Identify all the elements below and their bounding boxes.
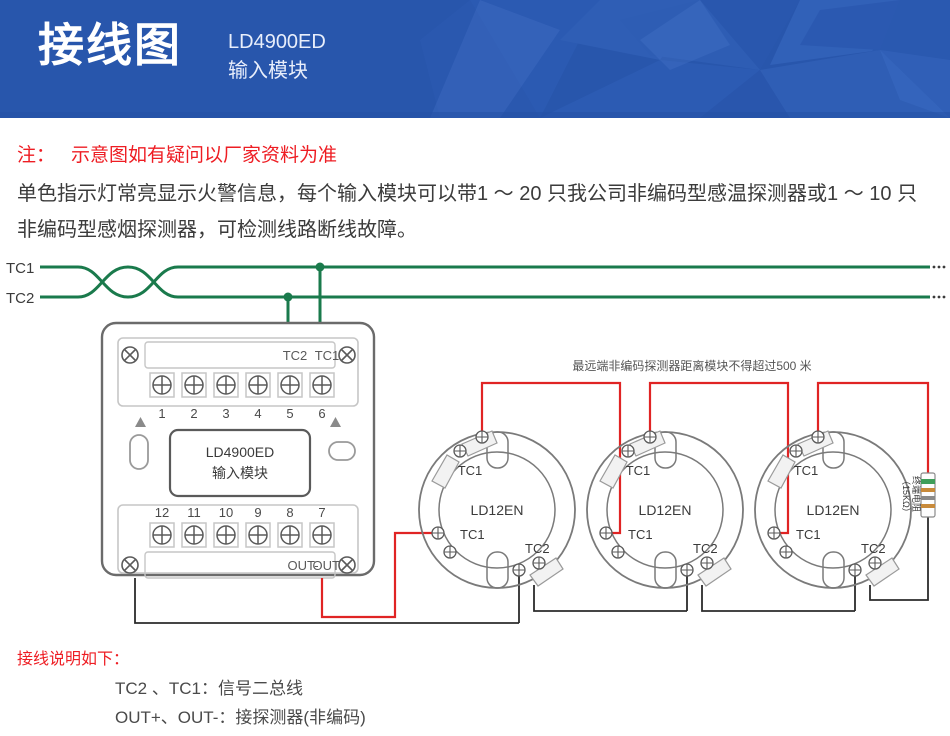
resistor-band-2 [921, 488, 935, 492]
intro-paragraph: 单色指示灯常亮显示火警信息，每个输入模块可以带1 ～ 20 只我公司非编码型感温… [17, 176, 937, 248]
module-screw-top-left [122, 347, 138, 363]
header-model: LD4900ED [228, 28, 326, 57]
header-subtitle: 输入模块 [228, 57, 326, 86]
warning-note: 注：示意图如有疑问以厂家资料为准 [17, 140, 337, 167]
input-module: TC2 TC1 [102, 323, 374, 578]
detector3-label-tc1-top: TC1 [794, 463, 819, 478]
detector2-label-tc1-top: TC1 [626, 463, 651, 478]
terminal-number-4: 4 [254, 406, 261, 421]
resistor-band-1 [921, 479, 935, 484]
detector2-model: LD12EN [639, 502, 692, 518]
detector1-label-tc1-left: TC1 [460, 527, 485, 542]
signal-bus-lines [40, 267, 930, 323]
legend-item-out: OUT+、OUT-：接探测器(非编码) [115, 703, 366, 732]
legend-list: TC2 、TC1：信号二总线 OUT+、OUT-：接探测器(非编码) [115, 674, 366, 732]
bus-continuation-dots [933, 266, 946, 299]
detector2-label-tc1-left: TC1 [628, 527, 653, 542]
detector3-label-tc2: TC2 [861, 541, 886, 556]
detector-base-2: LD12EN TC1 TC1 TC2 [587, 431, 743, 588]
positive-loop-wires [322, 383, 928, 617]
terminal-number-7: 7 [318, 505, 325, 520]
resistor-label: 终端电阻 [911, 476, 922, 512]
module-nameplate-model: LD4900ED [206, 444, 275, 460]
legend-item-tc: TC2 、TC1：信号二总线 [115, 674, 366, 703]
terminal-number-1: 1 [158, 406, 165, 421]
detector1-label-tc1-top: TC1 [458, 463, 483, 478]
module-screw-bottom-left [122, 557, 138, 573]
module-nameplate [170, 430, 310, 496]
detector-base-3: LD12EN TC1 TC1 TC2 [755, 431, 911, 588]
terminal-number-12: 12 [155, 505, 169, 520]
bus-label-tc1: TC1 [6, 260, 34, 277]
wire-detector2-tc2-b [702, 585, 796, 611]
wiring-diagram-page: 接线图 LD4900ED 输入模块 注：示意图如有疑问以厂家资料为准 单色指示灯… [0, 0, 950, 736]
legend-title: 接线说明如下： [17, 645, 129, 669]
header-title: 接线图 [38, 22, 182, 68]
detector1-slot-bottom [487, 552, 508, 588]
bus-line-tc1 [40, 267, 930, 297]
detector3-model: LD12EN [807, 502, 860, 518]
module-screw-top-right [339, 347, 355, 363]
terminal-number-10: 10 [219, 505, 233, 520]
junction-dot-tc2 [284, 293, 293, 302]
wire-detector1-tc2-b [534, 585, 628, 611]
end-of-line-resistor: 终端电阻 （15KΩ） [901, 473, 935, 517]
wire-out-minus-rail [135, 578, 292, 623]
bus-label-tc2: TC2 [6, 290, 34, 307]
terminal-number-11: 11 [187, 505, 201, 520]
terminal-number-5: 5 [286, 406, 293, 421]
module-terminal-label-tc2: TC2 [283, 348, 308, 363]
bus-line-tc2 [40, 267, 930, 297]
warning-note-text: 示意图如有疑问以厂家资料为准 [71, 145, 337, 166]
page-header: 接线图 LD4900ED 输入模块 [0, 0, 950, 118]
module-terminal-label-tc1: TC1 [315, 348, 340, 363]
resistor-value: （15KΩ） [901, 476, 911, 517]
detector2-slot-bottom [655, 552, 676, 588]
detector2-label-tc2: TC2 [693, 541, 718, 556]
module-screw-bottom-right [339, 557, 355, 573]
detector1-label-tc2: TC2 [525, 541, 550, 556]
module-nameplate-subtitle: 输入模块 [212, 465, 268, 481]
warning-note-label: 注： [17, 145, 55, 166]
terminal-number-6: 6 [318, 406, 325, 421]
terminal-number-3: 3 [222, 406, 229, 421]
detector3-slot-bottom [823, 552, 844, 588]
max-distance-note: 最远端非编码探测器距离模块不得超过500 米 [572, 358, 811, 373]
detector-base-1: LD12EN TC1 TC1 TC2 [419, 431, 575, 588]
junction-dot-tc1 [316, 263, 325, 272]
terminal-number-2: 2 [190, 406, 197, 421]
resistor-band-3 [921, 496, 935, 500]
detector1-model: LD12EN [471, 502, 524, 518]
terminal-number-8: 8 [286, 505, 293, 520]
wiring-diagram-canvas: TC1 TC2 TC2 TC1 [0, 245, 950, 635]
resistor-band-4 [921, 504, 935, 508]
wire-detector3-to-resistor [818, 383, 928, 473]
header-subtitle-group: LD4900ED 输入模块 [228, 28, 326, 86]
terminal-number-9: 9 [254, 505, 261, 520]
detector3-label-tc1-left: TC1 [796, 527, 821, 542]
